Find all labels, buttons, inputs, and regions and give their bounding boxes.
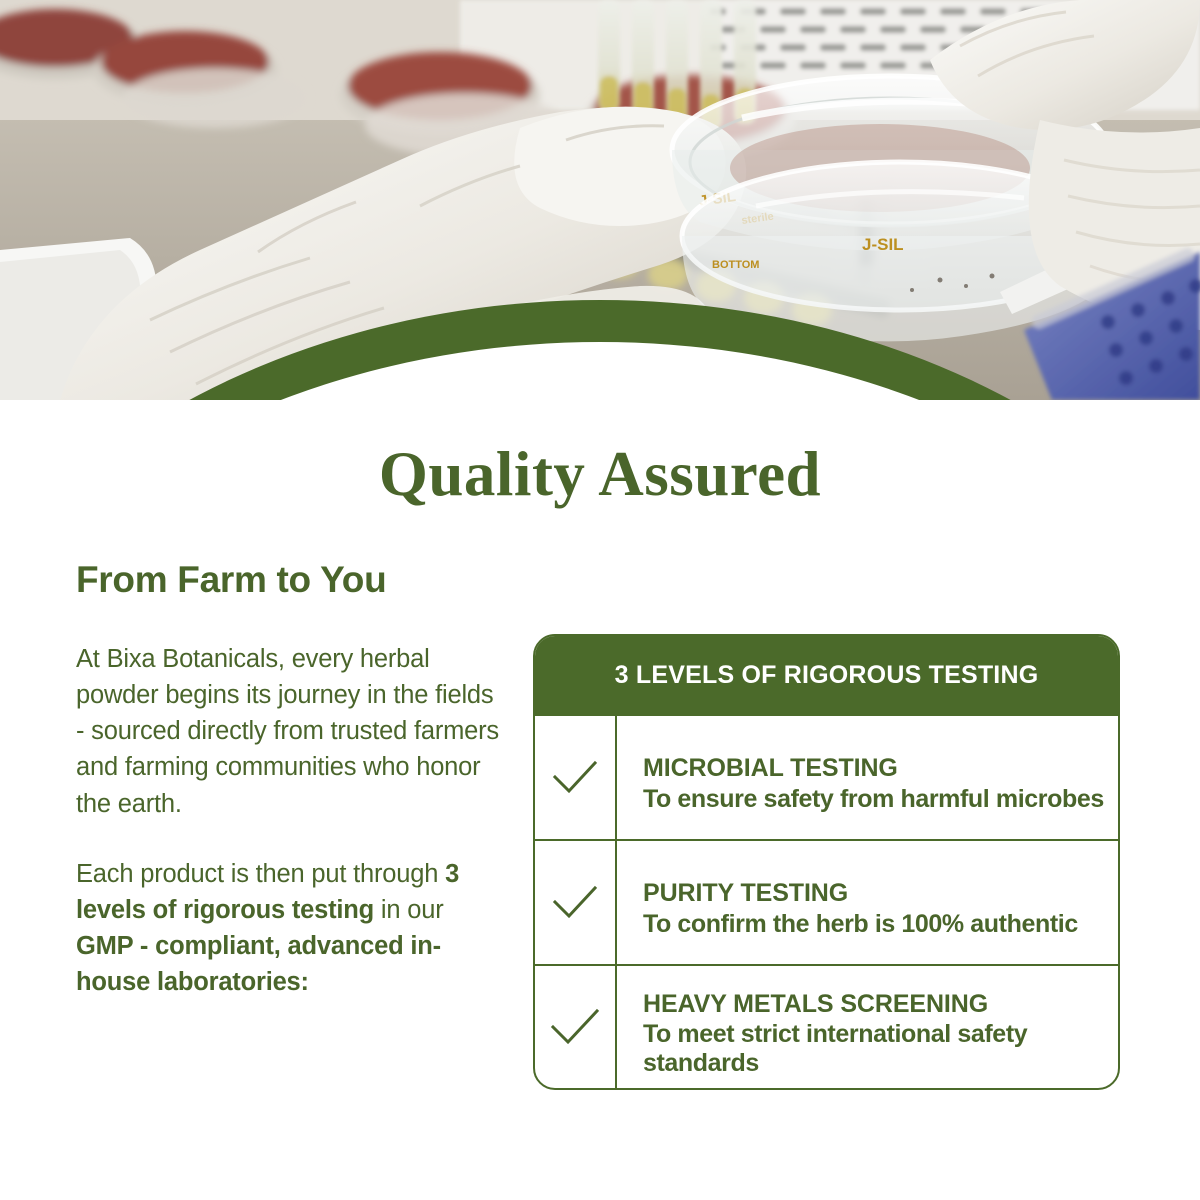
table-row: MICROBIAL TESTING To ensure safety from …: [535, 714, 1118, 839]
check-icon: [550, 1007, 600, 1049]
page-title: Quality Assured: [0, 438, 1200, 511]
svg-text:BOTTOM: BOTTOM: [712, 259, 759, 271]
row-title: MICROBIAL TESTING: [643, 754, 1104, 784]
table-row: PURITY TESTING To confirm the herb is 10…: [535, 839, 1118, 964]
intro-column: From Farm to You At Bixa Botanicals, eve…: [76, 560, 506, 1001]
row-title: PURITY TESTING: [643, 879, 1104, 909]
paragraph2-part2: in our: [374, 896, 443, 924]
paragraph2-bold2: GMP - compliant, advanced in-house labor…: [76, 932, 441, 996]
content-area: From Farm to You At Bixa Botanicals, eve…: [0, 560, 1200, 1120]
testing-levels-card: 3 LEVELS OF RIGOROUS TESTING MICROBIAL T…: [533, 634, 1120, 1090]
intro-paragraph-2: Each product is then put through 3 level…: [76, 856, 506, 1001]
check-cell: [535, 716, 617, 839]
row-description: To confirm the herb is 100% authentic: [643, 910, 1104, 939]
check-icon: [552, 759, 598, 797]
paragraph2-part1: Each product is then put through: [76, 860, 445, 888]
row-description: To meet strict international safety stan…: [643, 1020, 1104, 1077]
table-row: HEAVY METALS SCREENING To meet strict in…: [535, 964, 1118, 1089]
svg-text:J-SIL: J-SIL: [862, 235, 904, 254]
lab-photo-banner: J-SIL sterile J-SIL BOTTOM: [0, 0, 1200, 400]
row-text: MICROBIAL TESTING To ensure safety from …: [617, 716, 1118, 839]
check-cell: [535, 966, 617, 1089]
row-text: PURITY TESTING To confirm the herb is 10…: [617, 841, 1118, 964]
row-description: To ensure safety from harmful microbes: [643, 785, 1104, 814]
check-icon: [552, 884, 598, 922]
section-heading: From Farm to You: [76, 560, 506, 601]
row-title: HEAVY METALS SCREENING: [643, 990, 1104, 1020]
check-cell: [535, 841, 617, 964]
card-header: 3 LEVELS OF RIGOROUS TESTING: [535, 636, 1118, 714]
row-text: HEAVY METALS SCREENING To meet strict in…: [617, 966, 1118, 1089]
intro-paragraph-1: At Bixa Botanicals, every herbal powder …: [76, 641, 506, 822]
